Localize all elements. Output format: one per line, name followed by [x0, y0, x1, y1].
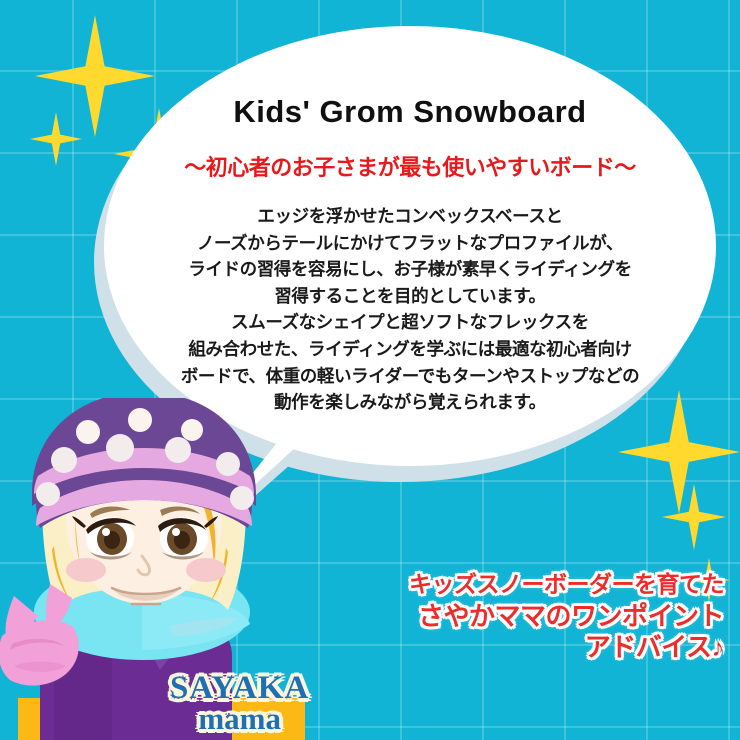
- advice-line-3: アドバイス♪: [409, 633, 724, 662]
- bottom-left-cyan-strip: [0, 698, 18, 740]
- advice-callout: キッズスノーボーダーを育てた さやかママのワンポイント アドバイス♪: [409, 572, 724, 662]
- sparkle-top-left-small: [30, 112, 82, 166]
- sparkle-right-small: [662, 484, 726, 550]
- product-description: エッジを浮かせたコンベックスベースと ノーズからテールにかけてフラットなプロファ…: [181, 203, 639, 416]
- description-line-5: スムーズなシェイプと超ソフトなフレックスを: [181, 309, 639, 336]
- product-title: Kids' Grom Snowboard: [233, 94, 586, 130]
- poster-canvas: Kids' Grom Snowboard 〜初心者のお子さまが最も使いやすいボー…: [0, 0, 740, 740]
- description-line-1: エッジを浮かせたコンベックスベースと: [181, 203, 639, 230]
- advice-line-1: キッズスノーボーダーを育てた: [409, 572, 724, 598]
- advice-line-2: さやかママのワンポイント: [409, 602, 724, 631]
- sayaka-mama-logo: SAYAKA mama: [170, 672, 309, 734]
- logo-secondary-text: mama: [170, 703, 309, 734]
- description-line-6: 組み合わせた、ライディングを学ぶには最適な初心者向け: [181, 336, 639, 363]
- product-subtitle: 〜初心者のお子さまが最も使いやすいボード〜: [184, 150, 636, 182]
- description-line-7: ボードで、体重の軽いライダーでもターンやストップなどの: [181, 363, 639, 390]
- description-line-3: ライドの習得を容易にし、お子様が素早くライディングを: [181, 256, 639, 283]
- description-line-4: 習得することを目的としています。: [181, 283, 639, 310]
- description-line-2: ノーズからテールにかけてフラットなプロファイルが、: [181, 230, 639, 257]
